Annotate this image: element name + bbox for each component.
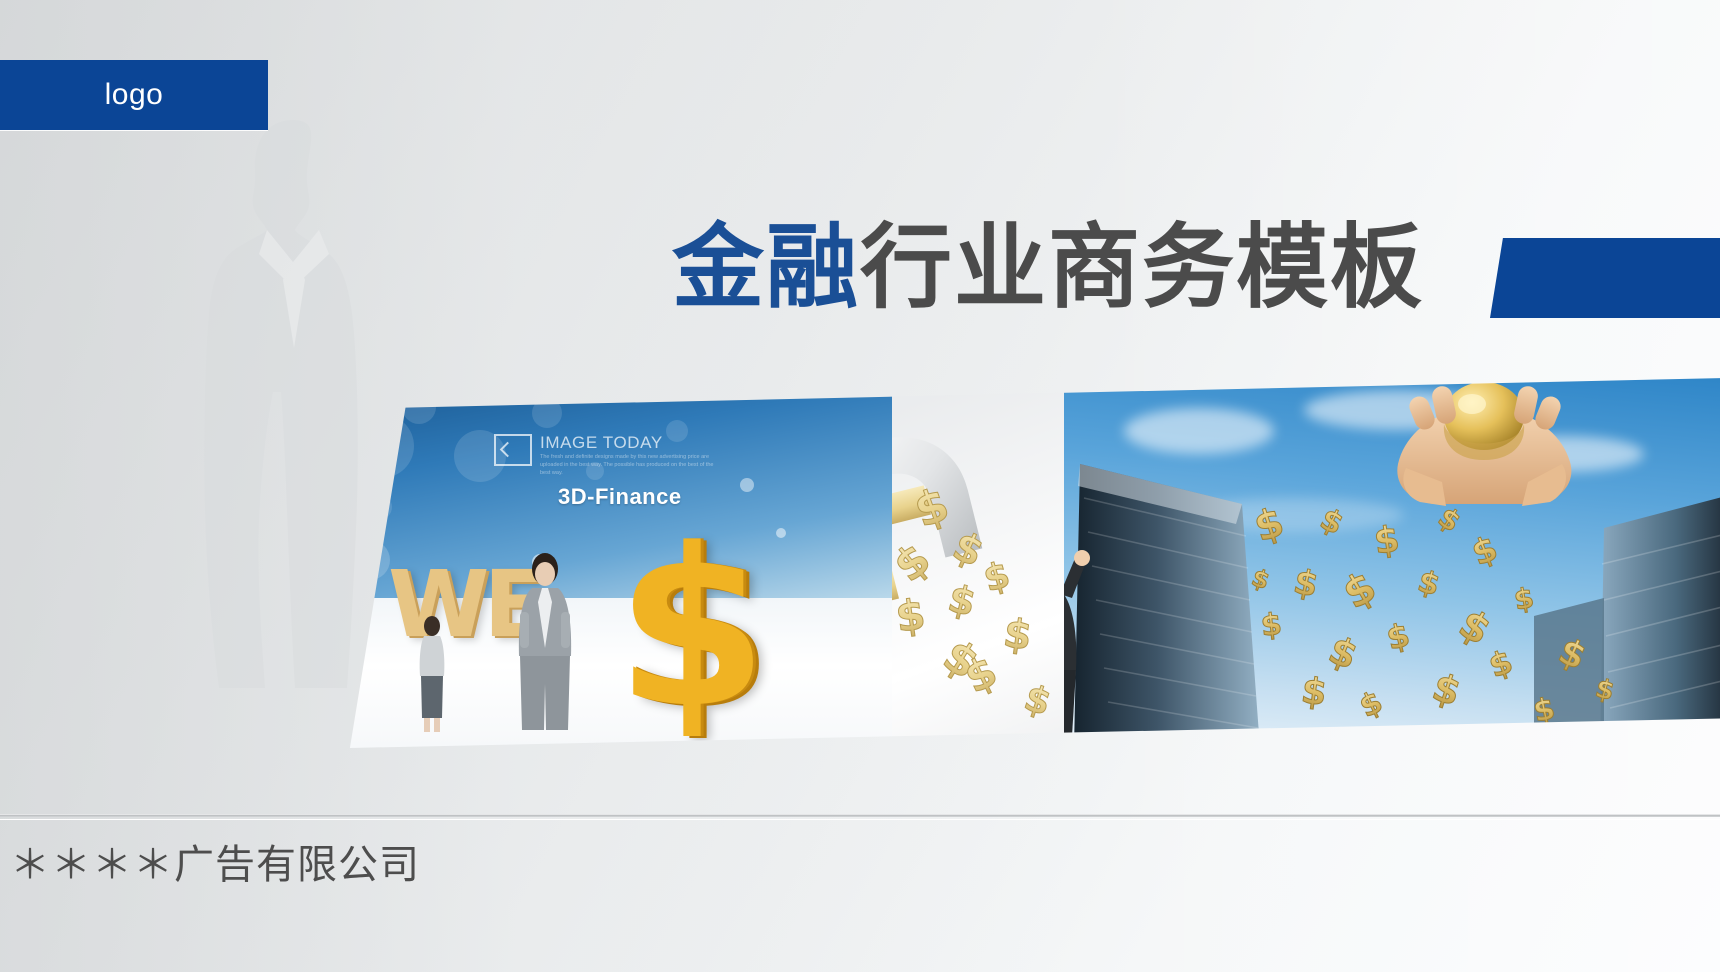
photo-panel-1: IMAGE TODAY The fresh and definite desig… — [336, 378, 892, 748]
svg-text:$: $ — [1414, 564, 1444, 603]
slide-canvas: logo 金融行业商务模板 IMAGE TODAY — [0, 0, 1720, 972]
svg-text:$: $ — [1466, 528, 1503, 574]
title-accent-flag — [1490, 238, 1720, 318]
footer-divider-highlight — [0, 819, 1720, 820]
page-title: 金融行业商务模板 — [672, 222, 1424, 314]
logo-placeholder[interactable]: logo — [0, 60, 268, 130]
svg-text:$: $ — [979, 554, 1014, 600]
watermark-title: IMAGE TODAY — [540, 434, 720, 453]
person-man — [508, 552, 582, 734]
page-title-accent: 金融 — [672, 217, 860, 319]
svg-text:$: $ — [1259, 607, 1283, 644]
svg-text:$: $ — [1354, 685, 1388, 726]
svg-text:$: $ — [1290, 562, 1321, 606]
person-woman — [412, 614, 452, 734]
svg-text:$: $ — [1372, 519, 1403, 563]
photo-panel-2: $ $ $ $ $ $ $ $ $ $ — [892, 378, 1064, 748]
buildings-and-golden-egg-illustration: $ $ $ $ $ $ $ $ $ $ $ $ $ $ $ $ $ — [1064, 378, 1720, 748]
svg-text:$: $ — [1323, 628, 1364, 679]
page-title-plain: 行业商务模板 — [860, 217, 1424, 319]
magnet-and-dollars-illustration: $ $ $ $ $ $ $ $ $ $ — [892, 378, 1064, 748]
svg-text:$: $ — [1383, 616, 1414, 658]
photo-panel-3: $ $ $ $ $ $ $ $ $ $ $ $ $ $ $ $ $ — [1064, 378, 1720, 748]
svg-text:$: $ — [892, 534, 941, 593]
svg-text:$: $ — [1484, 642, 1518, 685]
businessman-silhouette-icon — [195, 112, 395, 692]
svg-text:$: $ — [1019, 678, 1056, 725]
svg-text:$: $ — [1432, 500, 1467, 538]
svg-text:$: $ — [1427, 665, 1466, 715]
footer-divider — [0, 814, 1720, 817]
svg-text:$: $ — [957, 646, 1005, 703]
logo-label: logo — [105, 80, 164, 110]
svg-text:$: $ — [1314, 502, 1348, 543]
svg-text:$: $ — [1001, 610, 1035, 659]
gold-dollar-sign: $ — [616, 541, 768, 720]
image-placeholder-icon — [494, 434, 532, 466]
watermark-subtext: The fresh and definite designs made by t… — [540, 453, 720, 478]
svg-text:$: $ — [1248, 563, 1273, 595]
svg-text:$: $ — [1335, 562, 1385, 619]
svg-text:$: $ — [1249, 499, 1290, 551]
svg-text:$: $ — [1511, 581, 1536, 617]
person-celebrating-woman — [1064, 540, 1102, 740]
svg-text:$: $ — [944, 576, 980, 625]
svg-text:$: $ — [893, 589, 929, 642]
photo-band: IMAGE TODAY The fresh and definite desig… — [336, 378, 1720, 748]
svg-text:$: $ — [1299, 670, 1330, 714]
image-today-watermark: IMAGE TODAY The fresh and definite desig… — [494, 434, 720, 477]
company-name: ＊＊＊＊广告有限公司 — [10, 832, 420, 890]
